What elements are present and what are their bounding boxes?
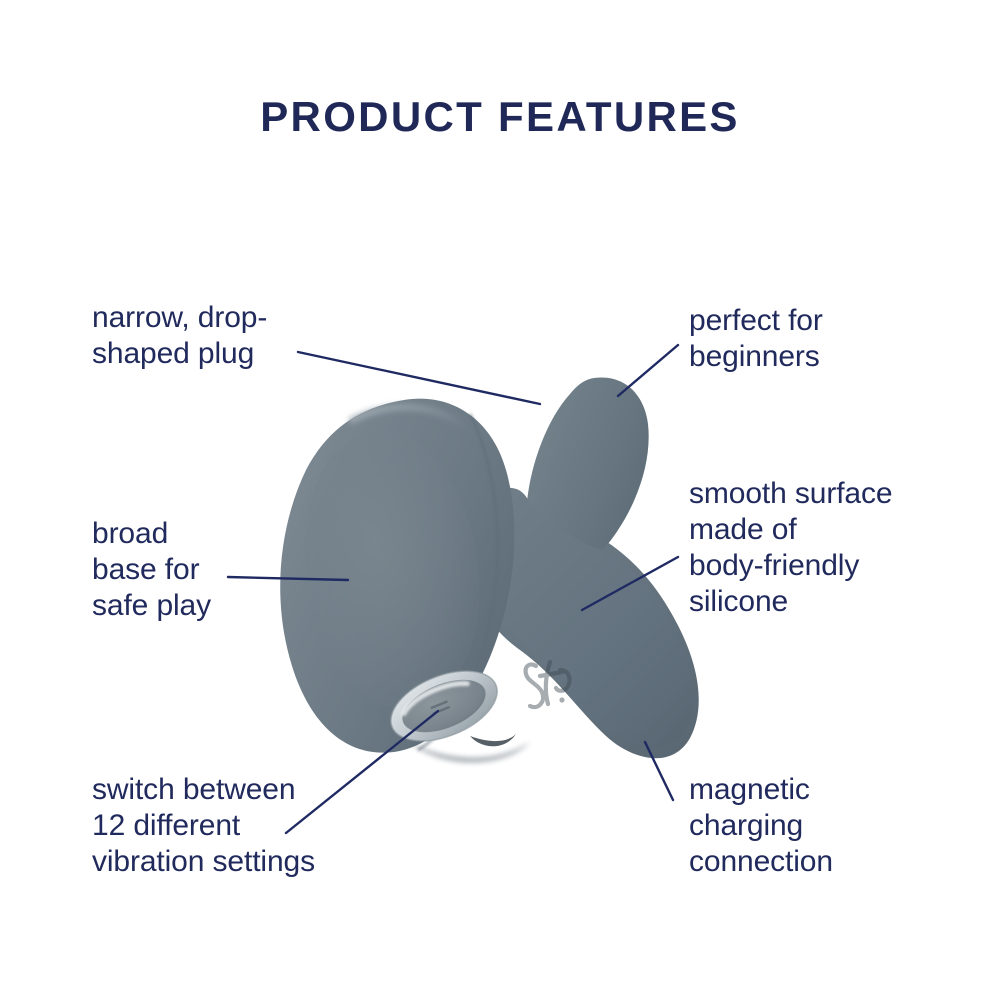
callout-beginners-line-1: perfect for — [689, 303, 979, 339]
callout-magnetic-line-2: charging — [689, 808, 979, 844]
callout-vibration-line-1: switch between — [92, 772, 412, 808]
callout-magnetic-line-3: connection — [689, 844, 979, 880]
callout-broad-base-line-3: safe play — [92, 588, 352, 624]
callout-narrow-plug-line-1: narrow, drop- — [92, 300, 392, 336]
callout-silicone-line-2: made of — [689, 512, 989, 548]
callout-silicone-line-1: smooth surface — [689, 476, 989, 512]
callout-silicone: smooth surface made of body-friendly sil… — [689, 476, 989, 620]
callout-beginners-line-2: beginners — [689, 339, 979, 375]
callout-narrow-plug-line-2: shaped plug — [92, 336, 392, 372]
callout-magnetic: magnetic charging connection — [689, 772, 979, 880]
callout-narrow-plug: narrow, drop- shaped plug — [92, 300, 392, 372]
button-seam-shadow — [470, 734, 516, 746]
callout-broad-base: broad base for safe play — [92, 516, 352, 624]
callout-broad-base-line-1: broad — [92, 516, 352, 552]
callout-magnetic-line-1: magnetic — [689, 772, 979, 808]
callout-vibration-line-2: 12 different — [92, 808, 412, 844]
product-features-page: PRODUCT FEATURES — [0, 0, 1000, 1000]
callout-beginners: perfect for beginners — [689, 303, 979, 375]
callout-vibration: switch between 12 different vibration se… — [92, 772, 412, 880]
callout-broad-base-line-2: base for — [92, 552, 352, 588]
callout-silicone-line-4: silicone — [689, 584, 989, 620]
callout-silicone-line-3: body-friendly — [689, 548, 989, 584]
callout-vibration-line-3: vibration settings — [92, 844, 412, 880]
